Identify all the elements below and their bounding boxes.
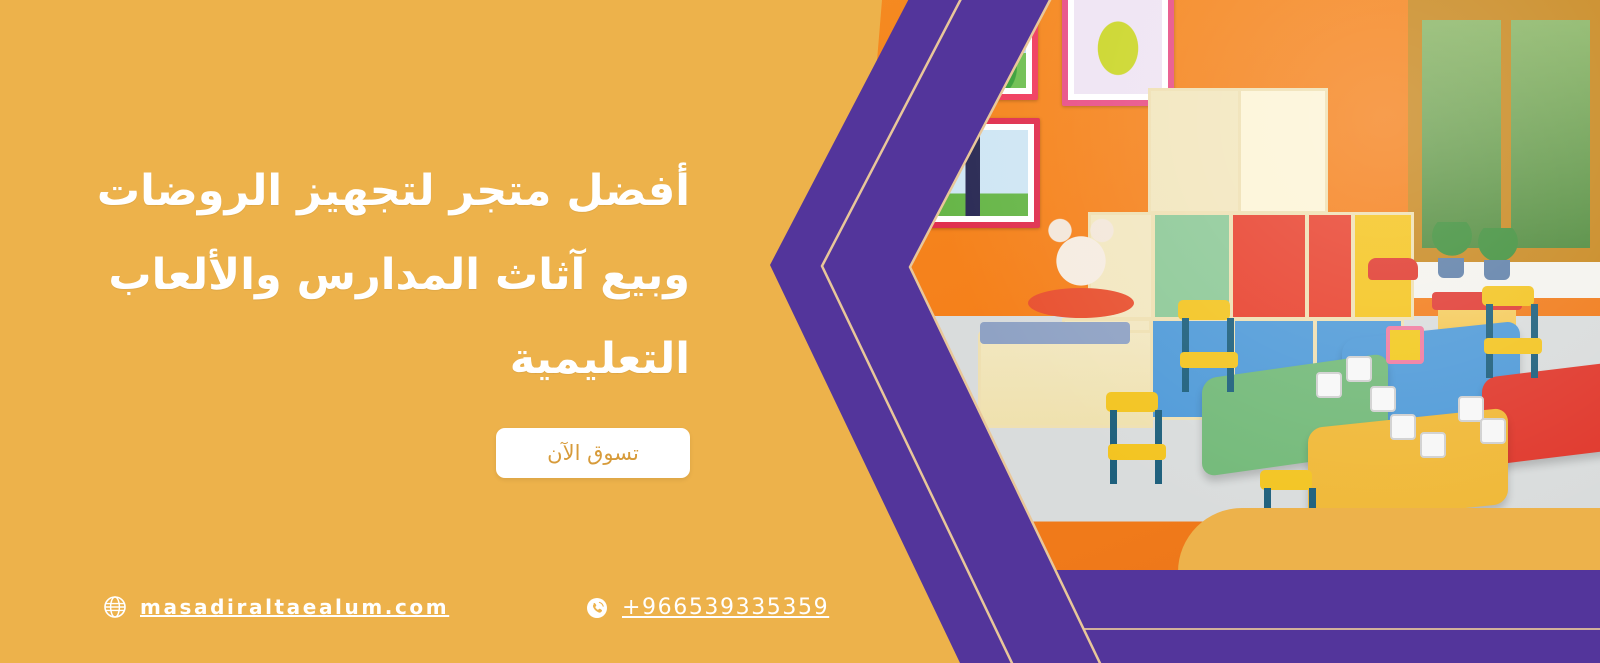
globe-icon [103, 595, 127, 619]
cubby-cell [1230, 212, 1308, 320]
flower-pot [1484, 260, 1510, 280]
alphabet-block [1420, 432, 1446, 458]
bottom-band-hairline [1060, 628, 1600, 630]
cubby-cell [1306, 212, 1354, 320]
alphabet-block [1390, 414, 1416, 440]
alphabet-block [1316, 372, 1342, 398]
alphabet-block [1480, 418, 1506, 444]
promo-banner: أفضل متجر لتجهيز الروضات وبيع آثاث المدا… [0, 0, 1600, 663]
shelf-unit-top [1238, 88, 1328, 214]
website-link[interactable]: masadiraltaealum.com [103, 595, 449, 619]
website-label: masadiraltaealum.com [140, 595, 449, 619]
number-block [1386, 326, 1424, 364]
phone-label: +966539335359 [622, 595, 829, 620]
page-title: أفضل متجر لتجهيز الروضات وبيع آثاث المدا… [90, 150, 690, 402]
shop-now-button[interactable]: تسوق الآن [496, 428, 690, 478]
bench-pad [980, 322, 1130, 344]
alphabet-block [1346, 356, 1372, 382]
wall-art-frame [912, 118, 1040, 228]
toy-car [1368, 258, 1418, 280]
footer-contact-bar: masadiraltaealum.com +966539335359 [0, 595, 860, 635]
alphabet-block [1370, 386, 1396, 412]
wall-art-frame [928, 0, 1038, 100]
banner-content: أفضل متجر لتجهيز الروضات وبيع آثاث المدا… [0, 0, 720, 663]
phone-link[interactable]: +966539335359 [585, 595, 829, 620]
bottom-purple-band [1010, 570, 1600, 663]
phone-circle-icon [585, 596, 609, 620]
alphabet-block [1458, 396, 1484, 422]
flower-pot [1438, 258, 1464, 278]
teddy-bear [1046, 218, 1116, 296]
